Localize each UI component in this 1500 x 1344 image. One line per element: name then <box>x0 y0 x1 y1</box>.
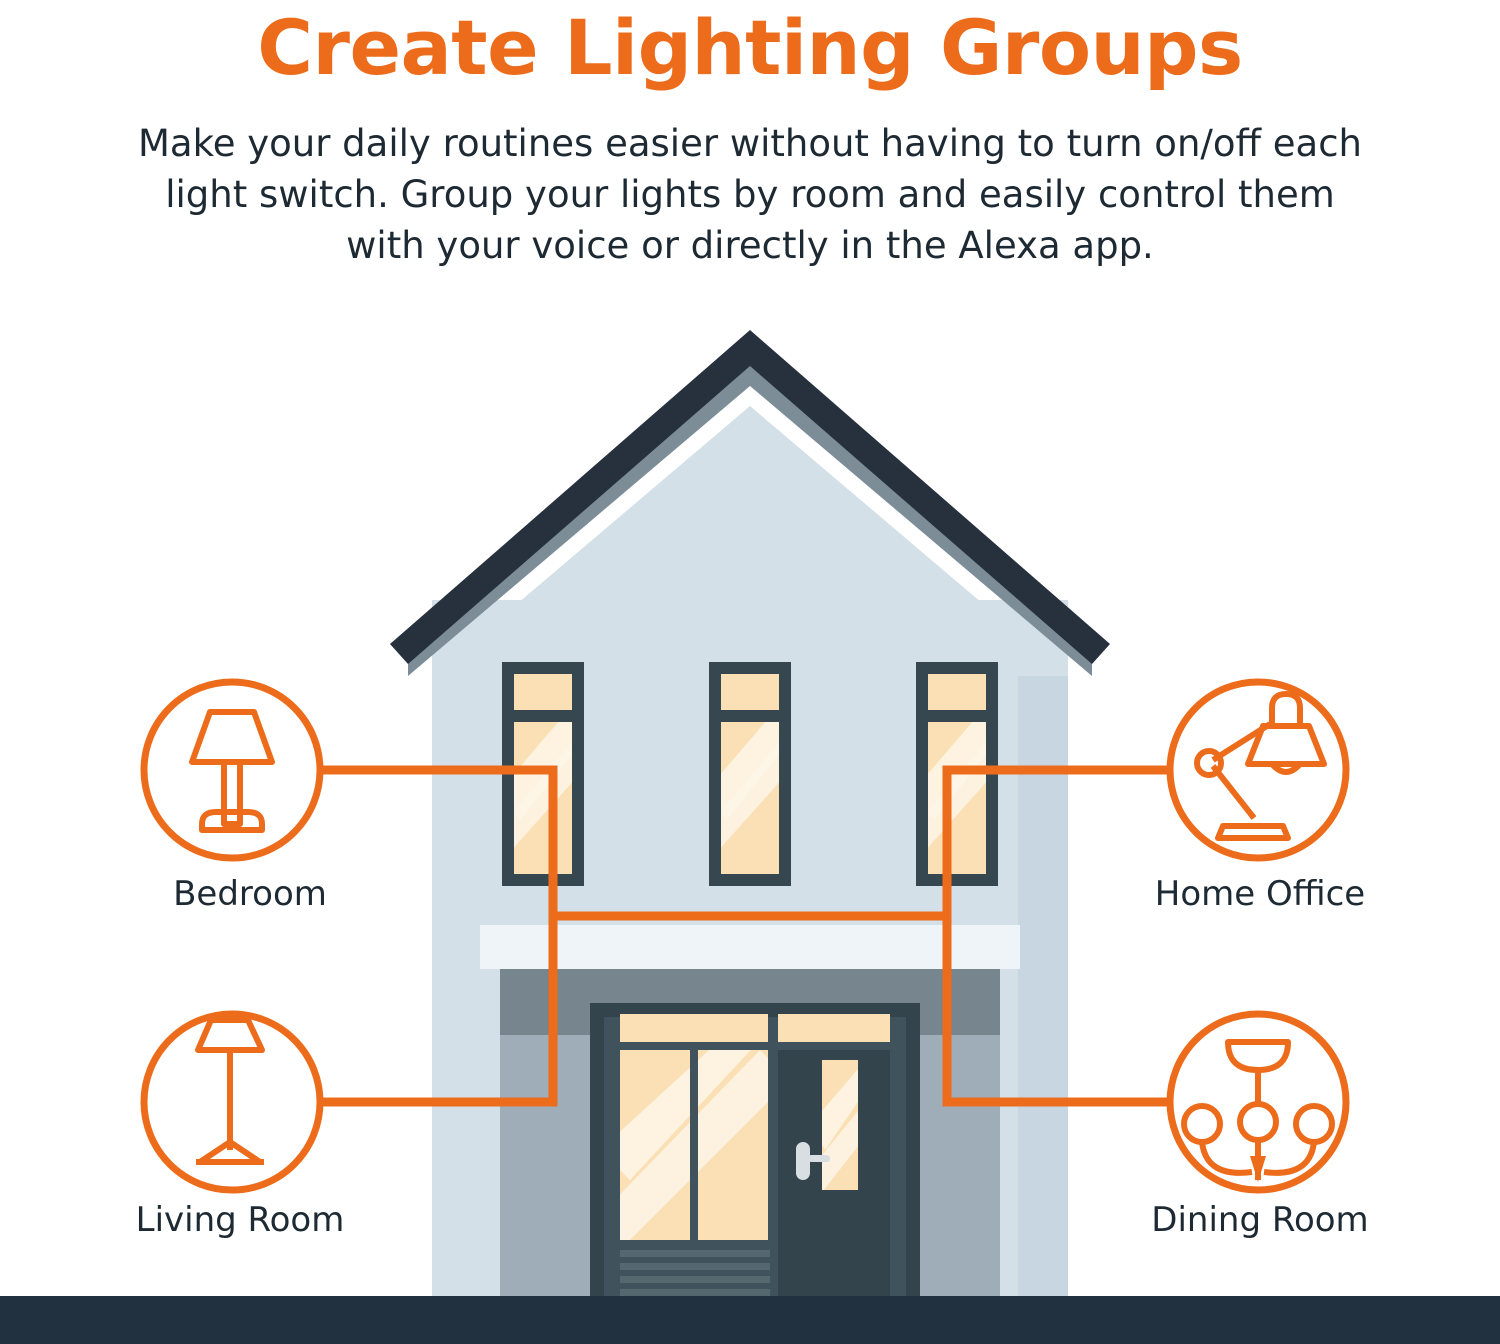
lamp-shade <box>1248 726 1324 764</box>
lamp-shade <box>198 1020 262 1050</box>
room-label-bedroom: Bedroom <box>110 874 390 914</box>
door-transom-left <box>620 1014 768 1042</box>
lamp-base <box>1218 826 1288 838</box>
ground-bar <box>0 1296 1500 1344</box>
window-transom-pane <box>514 674 572 710</box>
sidelight-mullion <box>690 1050 698 1240</box>
floor-lamp-icon <box>196 1020 264 1162</box>
home-office-node <box>1170 682 1346 858</box>
window-transom-pane <box>928 674 986 710</box>
room-label-living-room: Living Room <box>100 1200 380 1240</box>
door-sidelights <box>600 1040 790 1250</box>
ceiling-mount <box>1228 1042 1288 1070</box>
table-lamp-icon <box>192 712 272 830</box>
arm-left <box>1202 1142 1252 1173</box>
porch-group <box>480 925 1020 1296</box>
center-drop-tip <box>1250 1156 1266 1182</box>
arm-right <box>1264 1142 1314 1173</box>
dining-room-node <box>1170 1014 1346 1190</box>
lamp-pivot-joint <box>1197 751 1221 775</box>
bedroom-node <box>144 682 320 858</box>
room-label-dining-room: Dining Room <box>1120 1200 1400 1240</box>
chandelier-icon <box>1184 1042 1332 1182</box>
bulb-left <box>1184 1106 1220 1142</box>
header: Create Lighting Groups Make your daily r… <box>0 0 1500 271</box>
desk-lamp-icon <box>1197 694 1324 838</box>
infographic-root: Create Lighting Groups Make your daily r… <box>0 0 1500 1344</box>
door-handle-lever <box>808 1155 830 1162</box>
living-room-node <box>144 1014 320 1190</box>
page-title: Create Lighting Groups <box>0 0 1500 92</box>
lamp-shade <box>192 712 272 762</box>
door-handle <box>796 1142 810 1180</box>
window-transom-pane <box>721 674 779 710</box>
lamp-bulb-head <box>1272 694 1300 726</box>
door-transom-right <box>778 1014 890 1042</box>
awning-band <box>480 925 1020 969</box>
page-subtitle: Make your daily routines easier without … <box>125 92 1375 271</box>
bulb-center <box>1240 1104 1276 1140</box>
room-label-home-office: Home Office <box>1120 874 1400 914</box>
bulb-right <box>1296 1106 1332 1142</box>
